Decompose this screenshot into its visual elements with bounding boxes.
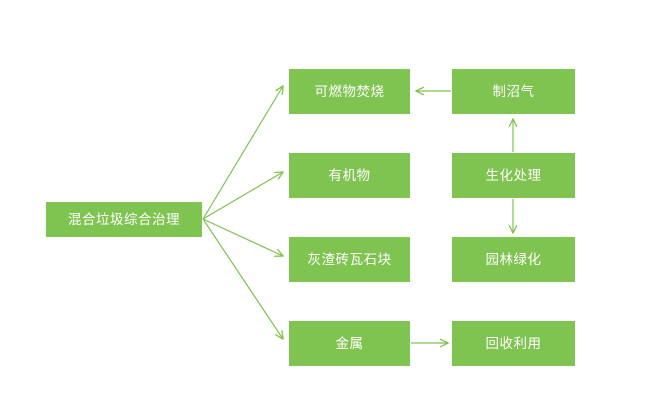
node-biochemical-treatment-label: 生化处理 [486, 169, 542, 183]
node-combustible-incineration-label: 可燃物焚烧 [315, 85, 385, 99]
node-organic-matter[interactable]: 有机物 [289, 153, 410, 198]
node-organic-matter-label: 有机物 [329, 169, 371, 183]
node-landscaping[interactable]: 园林绿化 [452, 237, 575, 282]
node-recycling-reuse[interactable]: 回收利用 [452, 321, 575, 366]
node-recycling-reuse-label: 回收利用 [486, 337, 542, 351]
node-metal-label: 金属 [336, 337, 364, 351]
node-biogas-production-label: 制沼气 [493, 85, 535, 99]
node-metal[interactable]: 金属 [289, 321, 410, 366]
node-landscaping-label: 园林绿化 [486, 253, 542, 267]
node-biogas-production[interactable]: 制沼气 [452, 69, 575, 114]
node-root-label: 混合垃圾综合治理 [68, 213, 180, 227]
connector-root-to-organic-matter [203, 172, 283, 219]
flowchart-diagram: 混合垃圾综合治理 可燃物焚烧 有机物 灰渣砖瓦石块 金属 制沼气 生化处理 园林… [0, 0, 648, 416]
node-biochemical-treatment[interactable]: 生化处理 [452, 153, 575, 198]
node-root[interactable]: 混合垃圾综合治理 [46, 202, 202, 237]
node-combustible-incineration[interactable]: 可燃物焚烧 [289, 69, 410, 114]
connector-root-to-combustible-incineration [203, 86, 283, 219]
node-ash-brick-tile-stone[interactable]: 灰渣砖瓦石块 [289, 237, 410, 282]
node-ash-brick-tile-stone-label: 灰渣砖瓦石块 [308, 253, 392, 267]
